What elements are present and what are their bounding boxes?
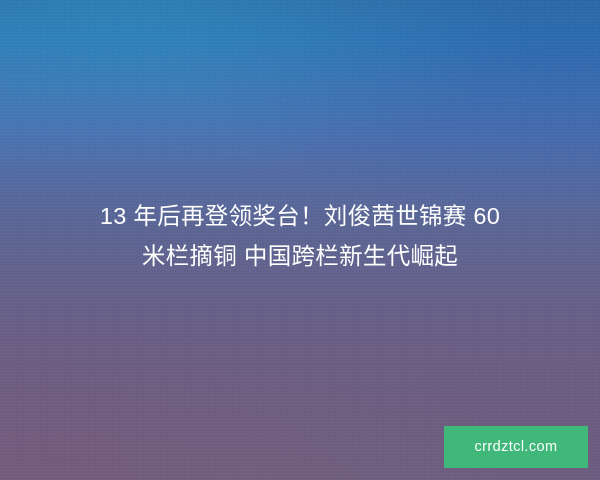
watermark-badge: crrdztcl.com xyxy=(444,426,588,468)
poster-image: 13 年后再登领奖台！刘俊茜世锦赛 60 米栏摘铜 中国跨栏新生代崛起 crrd… xyxy=(0,0,600,480)
watermark-label: crrdztcl.com xyxy=(475,439,558,455)
headline-text: 13 年后再登领奖台！刘俊茜世锦赛 60 米栏摘铜 中国跨栏新生代崛起 xyxy=(0,196,600,276)
